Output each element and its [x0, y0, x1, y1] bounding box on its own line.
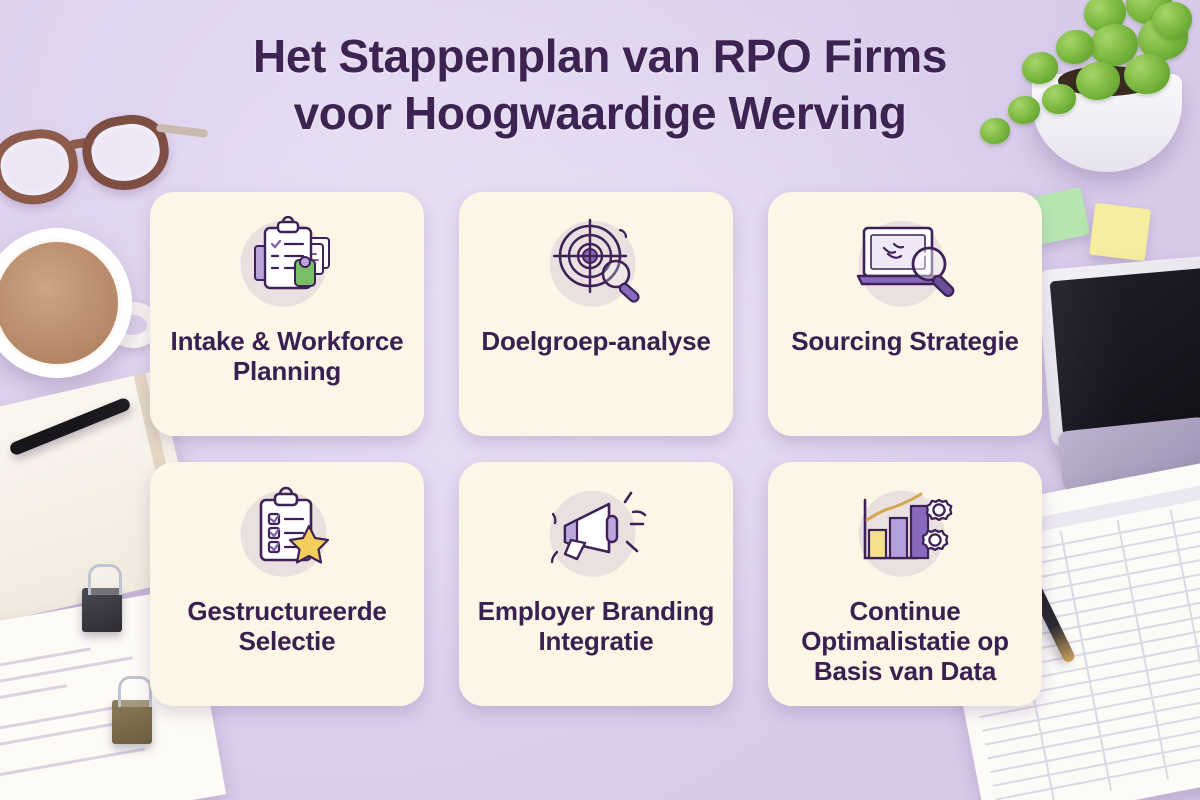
megaphone-icon [541, 486, 651, 578]
step-label: Continue Optimalistatie op Basis van Dat… [780, 596, 1030, 686]
step-icon-container [162, 210, 412, 314]
step-card-continue-optimalistatie[interactable]: Continue Optimalistatie op Basis van Dat… [768, 462, 1042, 706]
tablet [1037, 254, 1200, 448]
step-icon-container [162, 480, 412, 584]
tablet-screen [1050, 267, 1200, 435]
page-title-line-2: voor Hoogwaardige Werving [294, 87, 907, 139]
bar-chart-gears-icon [849, 486, 961, 578]
step-icon-container [780, 480, 1030, 584]
tablet-secondary [1057, 416, 1200, 491]
step-card-doelgroep-analyse[interactable]: Doelgroep-analyse [459, 192, 733, 436]
step-card-employer-branding-integratie[interactable]: Employer Branding Integratie [459, 462, 733, 706]
steps-grid: Intake & Workforce Planning Doelgroep-an… [150, 192, 1050, 706]
sticky-note-yellow [1089, 203, 1151, 261]
paper-line [0, 684, 67, 708]
coffee-liquid [0, 242, 118, 364]
paper-line [0, 647, 91, 676]
coffee-cup [0, 228, 132, 378]
target-magnifier-icon [544, 216, 648, 308]
step-icon-container [780, 210, 1030, 314]
laptop-magnifier-icon [850, 216, 960, 308]
step-label: Intake & Workforce Planning [162, 326, 412, 386]
page-title-line-1: Het Stappenplan van RPO Firms [253, 30, 947, 82]
step-card-intake-workforce-planning[interactable]: Intake & Workforce Planning [150, 192, 424, 436]
step-label: Gestructureerde Selectie [162, 596, 412, 656]
pen-black-left [8, 396, 132, 456]
binder-clip [112, 700, 152, 744]
clipboard-star-icon [235, 486, 339, 578]
paper-line [0, 721, 120, 753]
clipboard-checklist-icon [235, 216, 339, 308]
binder-clip [82, 588, 122, 632]
step-label: Employer Branding Integratie [471, 596, 721, 656]
paper-line [0, 700, 151, 738]
step-label: Sourcing Strategie [791, 326, 1019, 356]
step-card-gestructureerde-selectie[interactable]: Gestructureerde Selectie [150, 462, 424, 706]
paper-line [0, 748, 145, 783]
step-card-sourcing-strategie[interactable]: Sourcing Strategie [768, 192, 1042, 436]
step-icon-container [471, 480, 721, 584]
cup-body [0, 228, 132, 378]
sticky-note-green [1090, 673, 1168, 742]
step-label: Doelgroep-analyse [481, 326, 710, 356]
page-title: Het Stappenplan van RPO Firms voor Hoogw… [0, 28, 1200, 142]
step-icon-container [471, 210, 721, 314]
paper-line [0, 656, 133, 692]
